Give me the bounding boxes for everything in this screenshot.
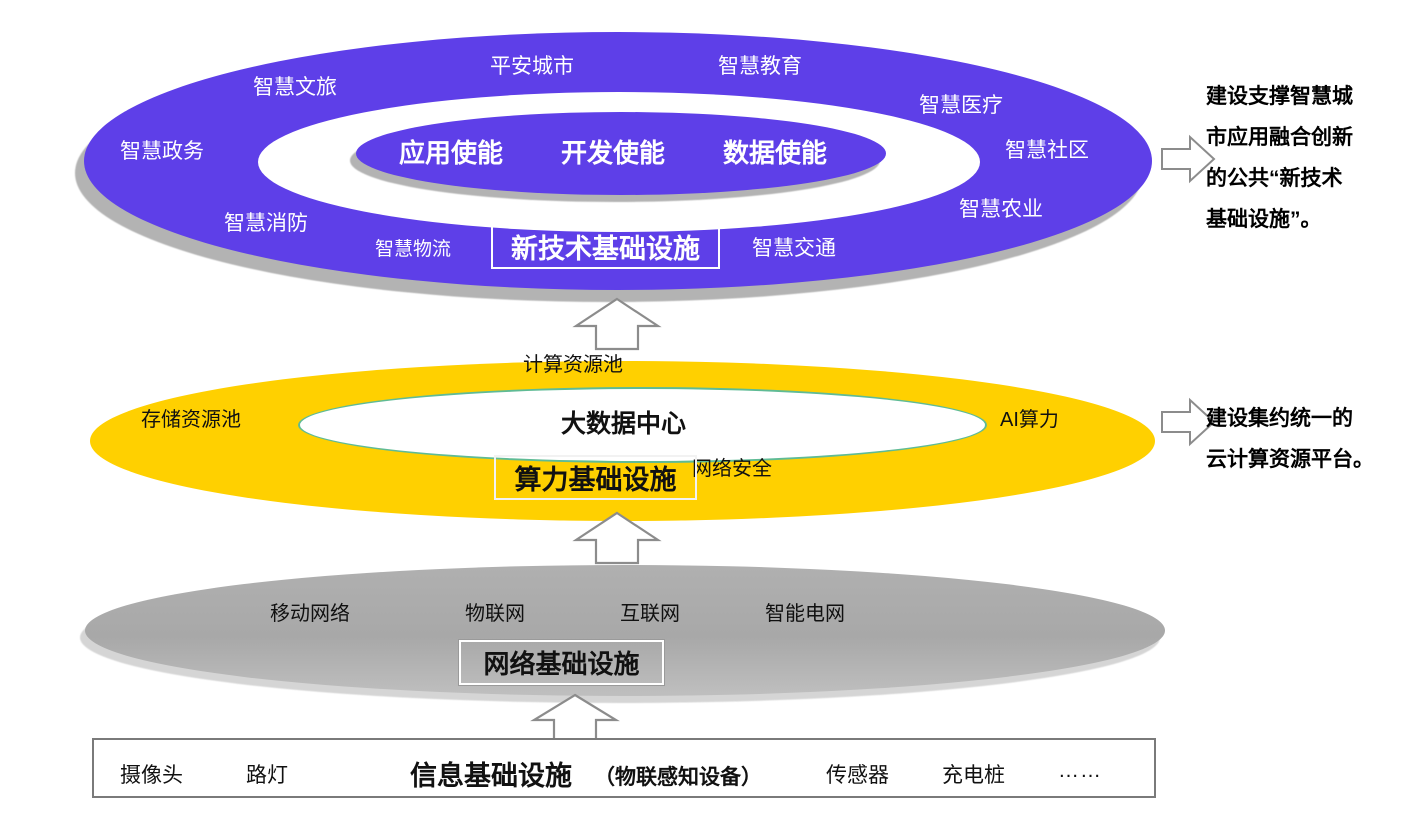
title-information-infrastructure-suffix: （物联感知设备） [594, 761, 762, 791]
label-big-data-center: 大数据中心 [561, 412, 686, 437]
label-smart-culture-tourism: 智慧文旅 [253, 77, 337, 98]
label-storage-resource-pool: 存储资源池 [141, 410, 241, 430]
label-internet: 互联网 [620, 604, 680, 624]
title-information-infrastructure: 信息基础设施 [410, 754, 572, 793]
note-application-line-1: 建设支撑智慧城 [1206, 76, 1353, 117]
note-compute-line-1: 建设集约统一的 [1206, 398, 1374, 439]
diagram-canvas: 智慧文旅 平安城市 智慧教育 智慧医疗 智慧社区 智慧农业 智慧交通 智慧物流 … [0, 0, 1412, 815]
label-smart-grid: 智能电网 [765, 604, 845, 624]
note-application-line-4: 基础设施”。 [1206, 199, 1353, 240]
label-compute-resource-pool: 计算资源池 [523, 355, 623, 375]
label-iot: 物联网 [465, 604, 525, 624]
label-smart-education: 智慧教育 [718, 56, 802, 77]
note-application-line-2: 市应用融合创新 [1206, 117, 1353, 158]
label-safe-city: 平安城市 [490, 56, 574, 77]
label-camera: 摄像头 [120, 759, 183, 789]
note-application-layer: 建设支撑智慧城 市应用融合创新 的公共“新技术 基础设施”。 [1206, 76, 1353, 240]
note-application-line-3: 的公共“新技术 [1206, 158, 1353, 199]
label-sensor: 传感器 [826, 759, 889, 789]
label-smart-community: 智慧社区 [1005, 140, 1089, 161]
label-ellipsis: …… [1058, 759, 1102, 783]
sensing-layer-bar: 摄像头 路灯 信息基础设施 （物联感知设备） 传感器 充电桩 …… [92, 738, 1156, 798]
label-application-enablement: 应用使能 [399, 140, 503, 166]
label-streetlight: 路灯 [246, 759, 288, 789]
note-compute-layer: 建设集约统一的 云计算资源平台。 [1206, 398, 1374, 480]
label-development-enablement: 开发使能 [561, 140, 665, 166]
title-network-infrastructure: 网络基础设施 [459, 640, 664, 685]
label-data-enablement: 数据使能 [723, 140, 827, 166]
note-compute-line-2: 云计算资源平台。 [1206, 439, 1374, 480]
label-smart-agriculture: 智慧农业 [959, 199, 1043, 220]
label-smart-logistics: 智慧物流 [375, 240, 451, 259]
label-network-security: 网络安全 [692, 459, 772, 479]
title-new-tech-infrastructure: 新技术基础设施 [491, 224, 720, 269]
arrow-compute-to-application-icon [572, 296, 662, 352]
label-smart-government: 智慧政务 [120, 141, 204, 162]
arrow-sensing-to-network-icon [530, 692, 620, 742]
label-smart-firefighting: 智慧消防 [224, 213, 308, 234]
label-smart-healthcare: 智慧医疗 [919, 95, 1003, 116]
label-charging-pile: 充电桩 [942, 759, 1005, 789]
arrow-network-to-compute-icon [572, 510, 662, 566]
label-smart-transport: 智慧交通 [752, 238, 836, 259]
label-mobile-network: 移动网络 [270, 604, 350, 624]
title-compute-infrastructure: 算力基础设施 [494, 455, 697, 500]
label-ai-compute-power: AI算力 [1000, 410, 1059, 430]
